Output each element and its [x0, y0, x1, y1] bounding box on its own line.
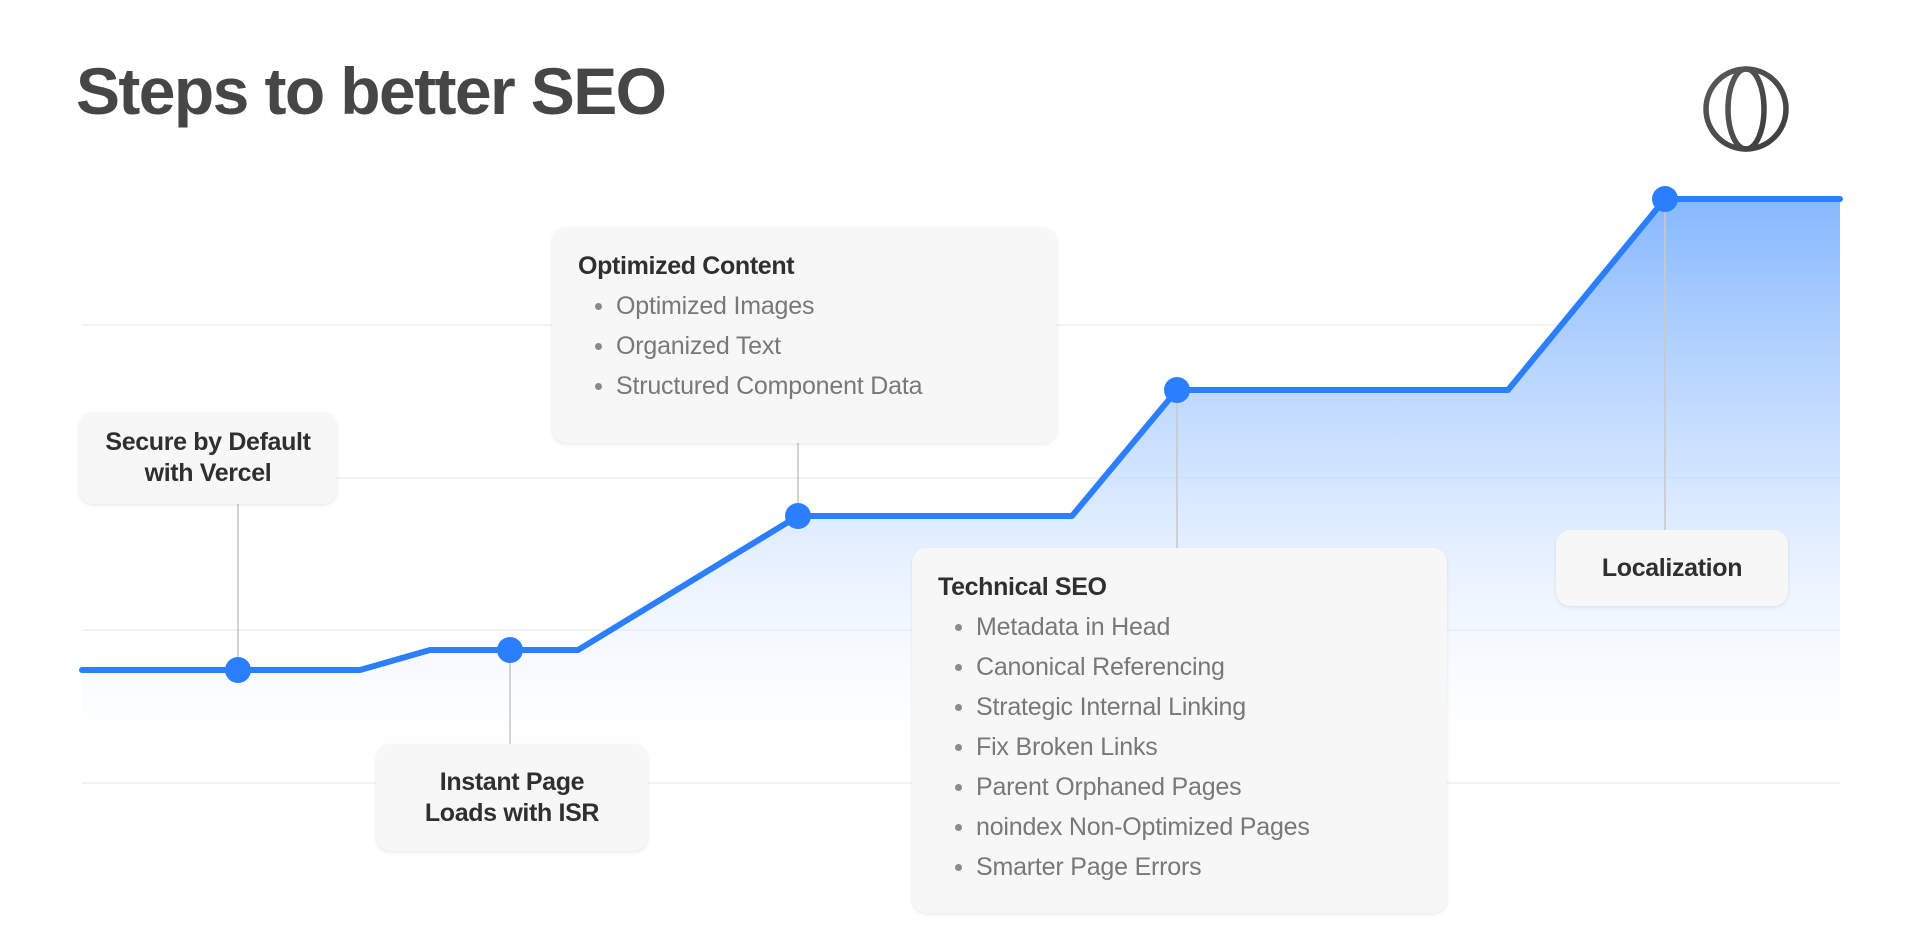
card-localization[interactable]: Localization — [1556, 530, 1788, 606]
card-isr-line2: Loads with ISR — [425, 799, 599, 827]
list-item: Smarter Page Errors — [976, 847, 1421, 887]
list-item: Optimized Images — [616, 286, 1031, 326]
card-technical-list: Metadata in Head Canonical Referencing S… — [938, 607, 1421, 887]
card-isr-title: Instant Page Loads with ISR — [425, 767, 599, 829]
card-optimized-content[interactable]: Optimized Content Optimized Images Organ… — [552, 227, 1057, 443]
chart-node-secure[interactable] — [225, 657, 251, 683]
card-secure-line2: with Vercel — [145, 459, 272, 487]
chart-node-optimized[interactable] — [785, 503, 811, 529]
card-optimized-title: Optimized Content — [578, 251, 1031, 282]
card-technical-seo[interactable]: Technical SEO Metadata in Head Canonical… — [912, 548, 1447, 913]
card-secure-title: Secure by Default with Vercel — [105, 427, 310, 489]
card-technical-title: Technical SEO — [938, 572, 1421, 603]
card-secure-line1: Secure by Default — [105, 428, 310, 456]
chart-node-technical[interactable] — [1164, 377, 1190, 403]
list-item: Canonical Referencing — [976, 647, 1421, 687]
card-localization-title: Localization — [1602, 553, 1742, 584]
card-instant-page-loads[interactable]: Instant Page Loads with ISR — [376, 744, 648, 851]
seo-steps-infographic: Steps to better SEO — [0, 0, 1920, 940]
list-item: Structured Component Data — [616, 366, 1031, 406]
list-item: Parent Orphaned Pages — [976, 767, 1421, 807]
card-secure-by-default[interactable]: Secure by Default with Vercel — [79, 412, 337, 504]
chart-node-isr[interactable] — [497, 637, 523, 663]
list-item: noindex Non-Optimized Pages — [976, 807, 1421, 847]
list-item: Strategic Internal Linking — [976, 687, 1421, 727]
card-isr-line1: Instant Page — [440, 768, 584, 796]
list-item: Metadata in Head — [976, 607, 1421, 647]
list-item: Organized Text — [616, 326, 1031, 366]
chart-node-localization[interactable] — [1652, 186, 1678, 212]
card-optimized-list: Optimized Images Organized Text Structur… — [578, 286, 1031, 406]
list-item: Fix Broken Links — [976, 727, 1421, 767]
